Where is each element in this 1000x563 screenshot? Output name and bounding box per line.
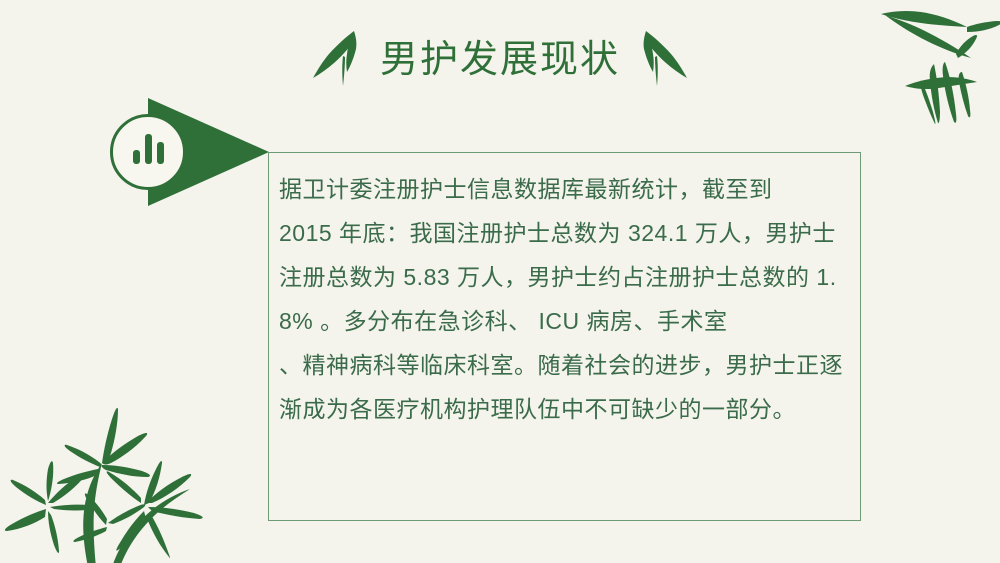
page-title-text: 男护发展现状	[380, 38, 620, 82]
bamboo-branch-icon	[0, 397, 244, 563]
bamboo-branch-icon	[859, 2, 1000, 124]
bar-chart-bar-2	[145, 134, 152, 164]
bamboo-leaf-ornament-icon	[310, 28, 366, 92]
bar-chart-bar-3	[157, 142, 164, 164]
content-paragraph: 据卫计委注册护士信息数据库最新统计，截至到 2015 年底：我国注册护士总数为 …	[279, 167, 854, 431]
badge-circle	[110, 114, 186, 190]
page-title: 男护发展现状	[0, 24, 1000, 96]
bar-chart-bar-1	[133, 150, 140, 164]
content-box: 据卫计委注册护士信息数据库最新统计，截至到 2015 年底：我国注册护士总数为 …	[268, 152, 861, 521]
bamboo-leaf-ornament-icon	[634, 28, 690, 92]
section-marker-badge	[148, 98, 269, 206]
bar-chart-icon	[133, 134, 164, 164]
slide: 男护发展现状 据卫计委注册护士信息数据库最新统计，截至到 2015 年底：我国注…	[0, 0, 1000, 563]
